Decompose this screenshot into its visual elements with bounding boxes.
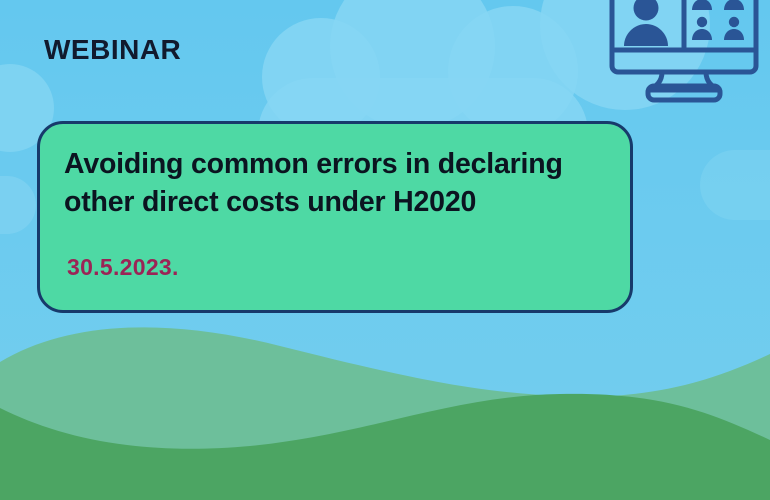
participant-avatar-head [697, 17, 707, 27]
participant-avatar-body [724, 0, 744, 10]
webinar-title: Avoiding common errors in declaring othe… [64, 146, 620, 222]
webinar-poster: WEBINAR Avoiding common errors in declar… [0, 0, 770, 500]
cloud-right-wisp [700, 150, 770, 220]
webinar-eyebrow-label: WEBINAR [44, 34, 181, 66]
participant-avatar-body [692, 29, 712, 40]
speaker-avatar [624, 0, 668, 46]
participants-avatars [692, 0, 744, 40]
speaker-avatar-body [624, 24, 668, 46]
monitor-base [648, 86, 720, 100]
webinar-date: 30.5.2023. [67, 254, 179, 281]
video-conference-icon [604, 0, 764, 104]
hill-landscape [0, 300, 770, 500]
participant-avatar-head [729, 17, 739, 27]
participant-avatar-body [692, 0, 712, 10]
speaker-avatar-head [634, 0, 659, 21]
webinar-info-card: Avoiding common errors in declaring othe… [37, 121, 633, 313]
participant-avatar-body [724, 29, 744, 40]
